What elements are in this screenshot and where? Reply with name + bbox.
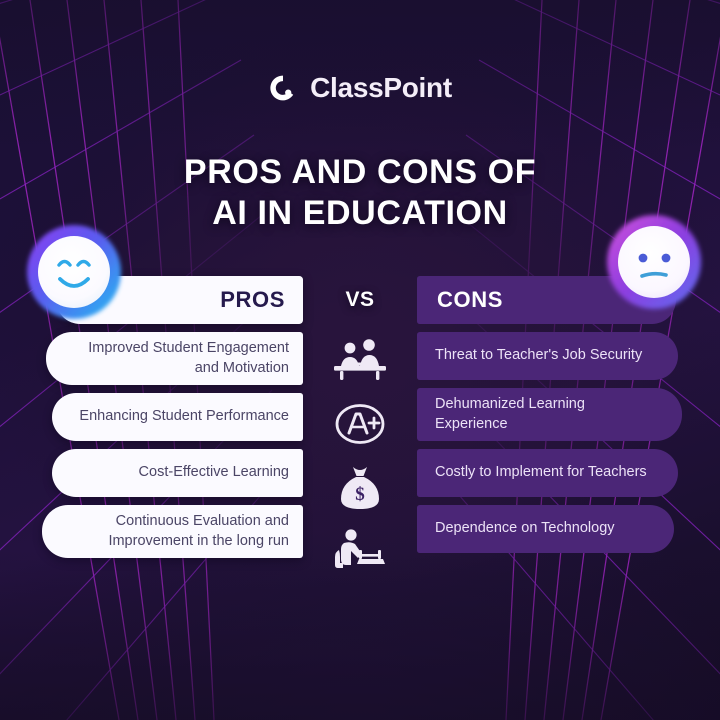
brand-lockup: ClassPoint [0, 72, 720, 104]
neutral-face-icon [598, 206, 710, 318]
smiling-face-icon [18, 216, 130, 328]
brand-name: ClassPoint [310, 72, 452, 104]
cons-item[interactable]: Threat to Teacher's Job Security [417, 332, 678, 380]
money-bag-icon: $ [335, 460, 385, 516]
classpoint-c-logo-icon [268, 73, 298, 103]
pros-item[interactable]: Enhancing Student Performance [52, 393, 303, 441]
a-plus-grade-icon [333, 396, 387, 452]
person-at-laptop-icon [333, 524, 387, 580]
vs-label: VS [345, 276, 374, 324]
pros-item[interactable]: Cost-Effective Learning [52, 449, 303, 497]
title-line-1: PROS AND CONS OF [184, 153, 536, 191]
infographic-canvas: ClassPoint PROS AND CONS OF AI IN EDUCAT… [0, 0, 720, 720]
teacher-and-student-desk-icon [332, 332, 388, 388]
cons-item[interactable]: Dependence on Technology [417, 505, 674, 553]
pros-item[interactable]: Improved Student Engagement and Motivati… [46, 332, 303, 385]
cons-item[interactable]: Dehumanized Learning Experience [417, 388, 682, 441]
svg-text:$: $ [355, 484, 365, 505]
center-column: VS [303, 276, 417, 580]
pros-item[interactable]: Continuous Evaluation and Improvement in… [42, 505, 303, 558]
cons-item[interactable]: Costly to Implement for Teachers [417, 449, 678, 497]
